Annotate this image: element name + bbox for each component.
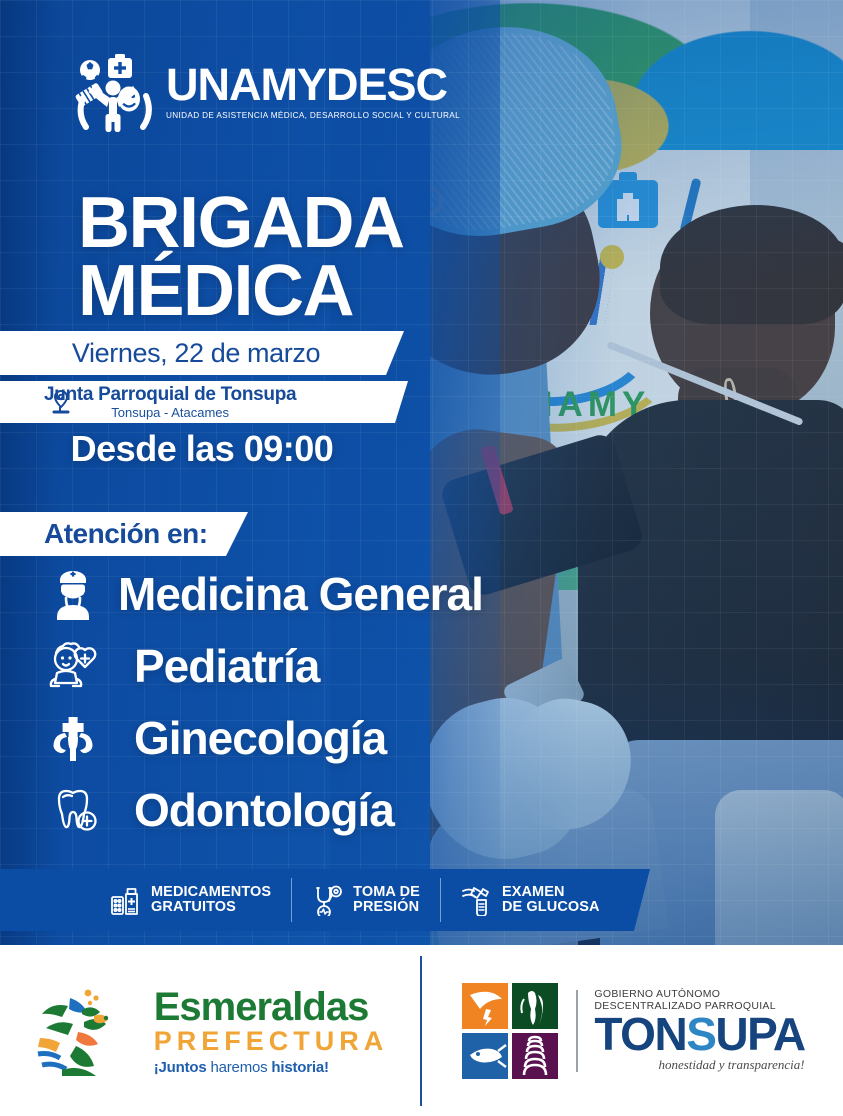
poster-root: UNAMY	[0, 0, 843, 1116]
extra-service-glucosa: EXAMEN DE GLUCOSA	[440, 878, 620, 922]
service-item-odontologia: Odontología	[44, 781, 394, 839]
service-label: Ginecología	[134, 711, 386, 765]
event-date-bar: Viernes, 22 de marzo	[0, 331, 404, 375]
service-item-medicina-general: Medicina General	[44, 565, 483, 623]
extra-service-label-1: TOMA DE	[353, 885, 420, 900]
esmeraldas-prefectura-logo	[32, 980, 140, 1082]
extra-service-label-2: GRATUITOS	[151, 900, 271, 915]
services-heading: Atención en:	[44, 518, 208, 550]
glucose-meter-icon	[461, 884, 493, 916]
service-item-pediatria: Pediatría	[44, 637, 319, 695]
title-line-1: BRIGADA	[78, 190, 404, 258]
service-label: Medicina General	[118, 567, 483, 621]
extra-service-label-1: MEDICAMENTOS	[151, 885, 271, 900]
tonsupa-word-a: TON	[594, 1008, 686, 1060]
event-venue: Junta Parroquial de Tonsupa	[44, 385, 296, 404]
extra-service-label-2: DE GLUCOSA	[502, 900, 600, 915]
event-locality: Tonsupa - Atacames	[44, 406, 296, 419]
logo-wordmark: UNAMYDESC	[166, 64, 460, 107]
footer-tonsupa: GOBIERNO AUTÓNOMO DESCENTRALIZADO PARROQ…	[422, 981, 843, 1081]
extra-service-label-2: PRESIÓN	[353, 900, 420, 915]
extra-service-presion: TOMA DE PRESIÓN	[291, 878, 440, 922]
tonsupa-wordmark: TONSUPA	[594, 1013, 804, 1055]
footer: Esmeraldas PREFECTURA ¡Juntos haremos hi…	[0, 945, 843, 1116]
service-item-ginecologia: Ginecología	[44, 709, 386, 767]
tonsupa-rule	[576, 990, 578, 1072]
footer-esmeraldas: Esmeraldas PREFECTURA ¡Juntos haremos hi…	[0, 980, 420, 1082]
tonsupa-tagline: honestidad y transparencia!	[594, 1058, 804, 1073]
extra-service-label-1: EXAMEN	[502, 885, 600, 900]
esmeraldas-name: Esmeraldas	[154, 987, 389, 1027]
title-line-2: MÉDICA	[78, 258, 404, 326]
service-label: Pediatría	[134, 639, 319, 693]
extra-service-medicamentos: MEDICAMENTOS GRATUITOS	[90, 878, 291, 922]
unamydesc-logo: UNAMYDESC UNIDAD DE ASISTENCIA MÉDICA, D…	[70, 52, 460, 132]
esmeraldas-slogan: ¡Juntos haremos historia!	[154, 1060, 389, 1075]
health-community-icon	[70, 52, 156, 132]
tooth-plus-icon	[44, 781, 102, 839]
extra-services-strip: MEDICAMENTOS GRATUITOS TOMA DE	[0, 869, 650, 931]
services-heading-bar: Atención en:	[0, 512, 248, 556]
slogan-part-1: ¡Juntos	[154, 1059, 207, 1076]
uterus-cross-icon	[44, 709, 102, 767]
event-date: Viernes, 22 de marzo	[72, 338, 332, 369]
tonsupa-word-s: S	[686, 1008, 715, 1060]
location-pin-icon	[48, 388, 74, 416]
tonsupa-gad-logo	[460, 981, 560, 1081]
tonsupa-word-b: UPA	[715, 1008, 804, 1060]
poster-title: BRIGADA MÉDICA	[78, 190, 404, 325]
medicine-bottle-icon	[110, 884, 142, 916]
tonsupa-line-1: GOBIERNO AUTÓNOMO	[594, 989, 804, 1001]
doctor-icon	[44, 565, 102, 623]
blood-pressure-icon	[312, 884, 344, 916]
slogan-part-2: haremos	[207, 1059, 272, 1076]
logo-subtitle: UNIDAD DE ASISTENCIA MÉDICA, DESARROLLO …	[166, 111, 460, 120]
esmeraldas-kicker: PREFECTURA	[154, 1028, 389, 1055]
slogan-part-3: historia!	[271, 1059, 328, 1076]
event-time: Desde las 09:00	[0, 428, 404, 470]
baby-heart-icon	[44, 637, 102, 695]
service-label: Odontología	[134, 783, 394, 837]
